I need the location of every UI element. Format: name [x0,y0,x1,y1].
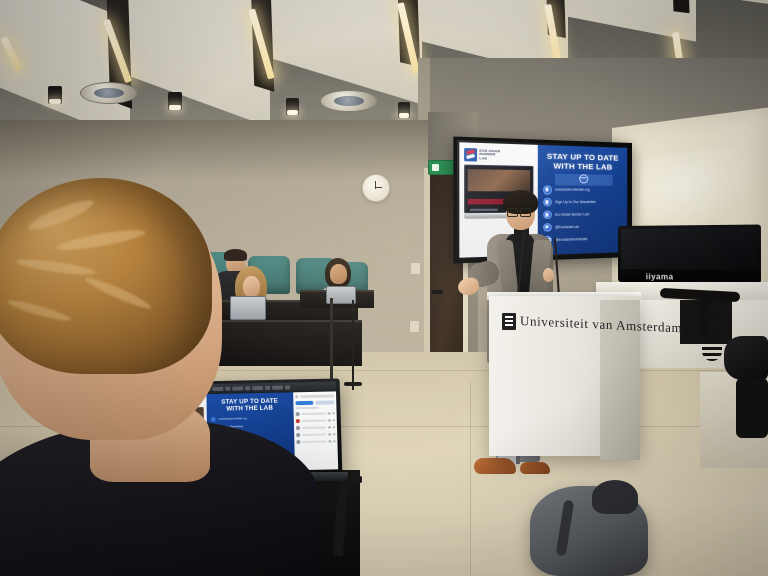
avatar [295,412,300,417]
audience-laptop [230,296,266,320]
slide-item-text: Sign Up to Our Newsletter [555,200,596,204]
slide-heading-line-2: WITH THE LAB [543,161,622,172]
panel-primary-button[interactable] [295,400,314,404]
monitor-screen [621,228,758,270]
camera-icon[interactable] [333,433,335,435]
office-chair-base[interactable] [736,378,768,438]
laptop-item: eurasianborderlab.org [219,417,247,421]
laptop-participants-panel[interactable] [293,391,338,470]
mic-icon[interactable] [328,412,330,414]
wall-socket[interactable] [410,262,421,275]
panel-secondary-button[interactable] [316,400,335,404]
camera-icon[interactable] [332,419,334,421]
ceiling-speaker [320,90,378,112]
slide-item-text: @EurAsianLab [555,225,579,230]
door-handle[interactable] [432,290,443,294]
downlight [286,98,299,115]
mic-icon[interactable] [328,426,330,428]
mic-icon[interactable] [328,433,330,435]
avatar [296,433,301,438]
slide-item-text: Eur-Asian Border Lab [555,212,589,216]
camera-icon[interactable] [332,412,334,414]
speaker-hand-right [543,268,554,282]
twitter-icon [543,223,552,232]
slide-highlight [555,174,612,186]
downlight [48,86,62,104]
step-railing [330,298,333,390]
avatar [296,440,301,445]
slide-right-panel: STAY UP TO DATE WITH THE LAB eurasianbor… [537,145,627,255]
camera-icon[interactable] [333,440,335,442]
wall-socket[interactable] [409,320,420,333]
lab-logo: EUR-ASIAN BORDER LAB [464,148,533,163]
globe-icon [211,417,217,423]
linkedin-icon [543,210,552,219]
microphone-stand [352,300,354,390]
slide-item-text: @eurasianborderlab [555,237,587,242]
camera-icon[interactable] [333,426,335,428]
desk-stand-foot [346,476,362,483]
coiled-phone-cable [702,305,722,361]
backpack-top [592,480,638,514]
mic-icon[interactable] [328,419,330,421]
back-wall-shadow [0,120,430,180]
laptop-slide-title-2: WITH THE LAB [210,405,289,414]
newsletter-icon [543,198,552,207]
globe-icon [543,185,552,194]
speaker-shoe-left [474,458,516,474]
office-chair[interactable] [724,336,768,380]
monitor-brand-label: iiyama [646,272,674,281]
glasses-icon [507,208,531,215]
exit-sign-icon [428,160,456,175]
avatar [296,426,301,431]
ceiling-speaker [80,82,138,104]
lab-logo-mark [464,148,477,162]
panel-dot-icon [295,395,298,398]
foreground-person-hair [0,178,212,374]
slide-item-text: eurasianborderlab.org [555,188,590,192]
avatar [295,419,300,424]
microphone-stand [344,382,362,386]
downlight [398,102,410,118]
iiyama-monitor: iiyama [618,224,761,283]
uva-logo [502,313,516,330]
mic-icon[interactable] [329,440,331,442]
wall-clock [362,174,390,202]
lecture-hall-photo: EUR-ASIAN BORDER LAB STAY UP TO DATE WIT… [0,0,768,576]
whiteboard-glare [640,142,760,238]
downlight [168,92,182,110]
speaker-shoe-right [520,462,550,474]
lab-logo-line-3: LAB [479,157,500,161]
